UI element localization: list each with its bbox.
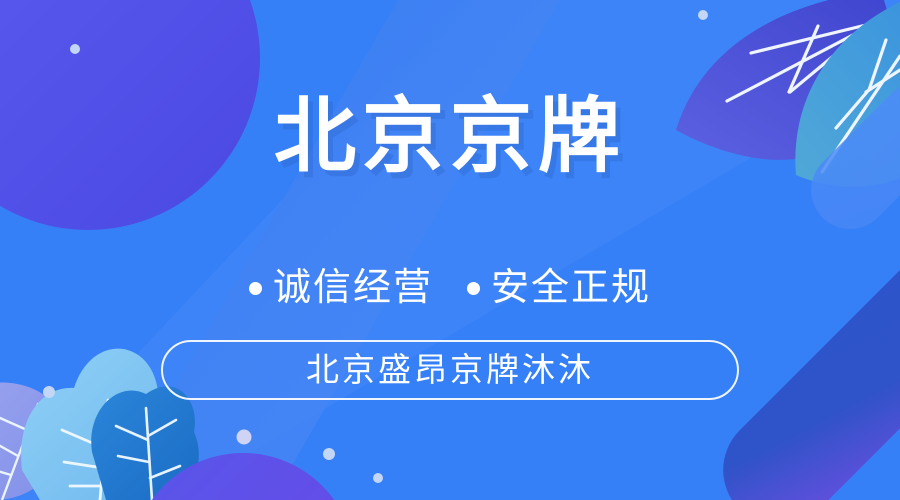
slogan-list: 诚信经营 安全正规 <box>249 269 651 307</box>
promo-banner: 北京京牌 诚信经营 安全正规 北京盛昂京牌沐沐 <box>0 0 900 500</box>
banner-title: 北京京牌 <box>274 96 626 178</box>
bullet-dot-icon <box>249 282 262 295</box>
slogan-item-0: 诚信经营 <box>249 269 433 307</box>
brand-pill-button[interactable]: 北京盛昂京牌沐沐 <box>161 340 739 400</box>
slogan-label-0: 诚信经营 <box>273 269 433 307</box>
slogan-item-1: 安全正规 <box>467 269 651 307</box>
brand-pill-label: 北京盛昂京牌沐沐 <box>306 353 594 386</box>
banner-content: 北京京牌 诚信经营 安全正规 北京盛昂京牌沐沐 <box>0 0 900 500</box>
slogan-label-1: 安全正规 <box>491 269 651 307</box>
bullet-dot-icon <box>467 282 480 295</box>
